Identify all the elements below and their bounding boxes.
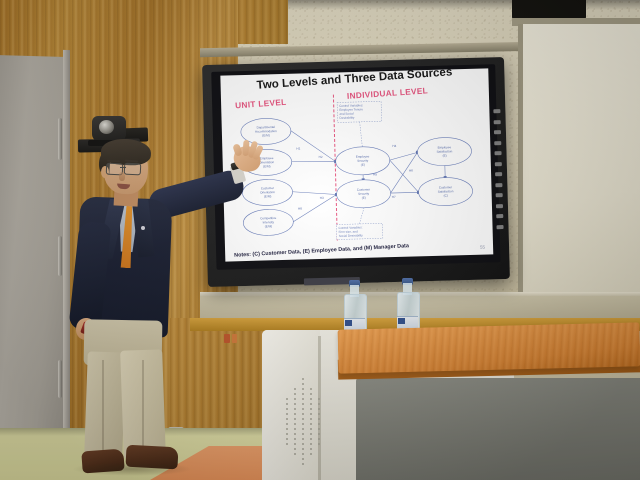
display-button[interactable]	[495, 172, 502, 176]
grille-dot	[286, 403, 288, 405]
svg-text:(E): (E)	[361, 163, 365, 167]
grille-dot	[294, 388, 296, 390]
grille-dot	[318, 408, 320, 410]
svg-text:H5: H5	[373, 172, 377, 176]
grille-dot	[302, 463, 304, 465]
door-hinge	[58, 360, 62, 398]
grille-dot	[286, 398, 288, 400]
wall-indicator-light	[232, 334, 237, 343]
grille-dot	[310, 413, 312, 415]
grille-dot	[302, 393, 304, 395]
grille-dot	[302, 418, 304, 420]
glasses-icon	[124, 163, 142, 176]
grille-dot	[294, 418, 296, 420]
grille-dot	[302, 383, 304, 385]
display-button[interactable]	[494, 130, 501, 134]
grille-dot	[286, 433, 288, 435]
ceiling-fixture	[512, 0, 586, 20]
grille-dot	[294, 448, 296, 450]
speaker-grille	[286, 378, 330, 472]
grille-dot	[318, 398, 320, 400]
grille-dot	[318, 423, 320, 425]
grille-dot	[286, 418, 288, 420]
grille-dot	[310, 388, 312, 390]
display-button[interactable]	[496, 225, 503, 229]
grille-dot	[302, 453, 304, 455]
whiteboard	[518, 24, 640, 310]
grille-dot	[294, 438, 296, 440]
presenter-lapel-pin	[141, 226, 145, 230]
grille-dot	[318, 418, 320, 420]
trouser-crease	[142, 360, 144, 450]
glasses-bridge	[120, 167, 126, 168]
grille-dot	[294, 428, 296, 430]
grille-dot	[318, 443, 320, 445]
grille-dot	[302, 458, 304, 460]
grille-dot	[294, 453, 296, 455]
grille-dot	[294, 408, 296, 410]
grille-dot	[286, 438, 288, 440]
svg-text:H3: H3	[320, 196, 324, 200]
camera-lens-icon	[99, 120, 114, 134]
display-button[interactable]	[495, 162, 502, 166]
display-button[interactable]	[494, 151, 501, 155]
grille-dot	[318, 403, 320, 405]
svg-text:(E): (E)	[443, 154, 447, 158]
svg-text:H2: H2	[319, 155, 323, 159]
grille-dot	[310, 428, 312, 430]
svg-text:(E/M): (E/M)	[265, 224, 273, 228]
display-button[interactable]	[496, 214, 503, 218]
display-button[interactable]	[493, 109, 500, 113]
presenter-leg	[84, 351, 126, 457]
presenter-nose	[119, 172, 125, 181]
grille-dot	[310, 443, 312, 445]
grille-dot	[302, 408, 304, 410]
grille-dot	[302, 443, 304, 445]
grille-dot	[310, 418, 312, 420]
slide-number: 55	[480, 245, 485, 250]
grille-dot	[302, 428, 304, 430]
display-button[interactable]	[496, 204, 503, 208]
smartboard-display[interactable]: Two Levels and Three Data Sources UNIT L…	[202, 57, 510, 287]
grille-dot	[294, 413, 296, 415]
grille-dot	[318, 438, 320, 440]
display-button[interactable]	[495, 183, 502, 187]
grille-dot	[302, 378, 304, 380]
grille-dot	[286, 408, 288, 410]
svg-text:Desirability: Desirability	[339, 116, 354, 120]
svg-text:(C): (C)	[444, 194, 448, 198]
grille-dot	[318, 428, 320, 430]
grille-dot	[286, 423, 288, 425]
door-hinge	[58, 118, 62, 160]
svg-text:H7: H7	[392, 195, 396, 199]
grille-dot	[294, 423, 296, 425]
bottle-label-mark	[398, 318, 405, 324]
grille-dot	[318, 433, 320, 435]
svg-text:(E/M): (E/M)	[264, 194, 272, 198]
grille-dot	[294, 403, 296, 405]
wall-indicator-light	[224, 334, 230, 343]
grille-dot	[310, 393, 312, 395]
display-button[interactable]	[494, 120, 501, 124]
grille-dot	[310, 403, 312, 405]
svg-text:H4: H4	[392, 144, 396, 148]
grille-dot	[302, 413, 304, 415]
door-frame	[63, 50, 70, 450]
svg-text:H8: H8	[298, 206, 302, 210]
svg-text:(E): (E)	[362, 196, 366, 200]
display-button[interactable]	[494, 141, 501, 145]
grille-dot	[310, 433, 312, 435]
grille-dot	[302, 423, 304, 425]
lecture-room-photo: Two Levels and Three Data Sources UNIT L…	[0, 0, 640, 480]
grille-dot	[302, 448, 304, 450]
svg-text:(E/M): (E/M)	[263, 164, 271, 168]
trouser-crease	[102, 360, 104, 450]
bottle-label-mark	[345, 320, 352, 326]
svg-text:Social Desirability: Social Desirability	[339, 233, 364, 238]
grille-dot	[302, 403, 304, 405]
grille-dot	[286, 413, 288, 415]
grille-dot	[318, 413, 320, 415]
grille-dot	[310, 438, 312, 440]
grille-dot	[302, 398, 304, 400]
presenter-shadow	[72, 462, 192, 476]
grille-dot	[302, 388, 304, 390]
svg-text:(E/M): (E/M)	[262, 133, 270, 137]
grille-dot	[302, 438, 304, 440]
lectern-front-panel	[356, 378, 640, 480]
grille-dot	[310, 398, 312, 400]
grille-dot	[310, 423, 312, 425]
wood-wall-panel-upper	[238, 0, 288, 44]
grille-dot	[294, 433, 296, 435]
svg-text:H6: H6	[409, 168, 413, 172]
grille-dot	[310, 453, 312, 455]
grille-dot	[294, 398, 296, 400]
grille-dot	[294, 443, 296, 445]
grille-dot	[310, 448, 312, 450]
grille-dot	[286, 428, 288, 430]
svg-text:H1: H1	[296, 146, 300, 150]
grille-dot	[286, 443, 288, 445]
path-diagram: DepartmentalAccommodation(E/M)EmployeeOr…	[220, 68, 493, 261]
grille-dot	[310, 408, 312, 410]
presentation-slide: Two Levels and Three Data Sources UNIT L…	[220, 68, 493, 261]
grille-dot	[294, 393, 296, 395]
display-button[interactable]	[496, 193, 503, 197]
door-hinge	[58, 236, 62, 276]
lectern-wood-top	[338, 322, 640, 373]
grille-dot	[302, 433, 304, 435]
